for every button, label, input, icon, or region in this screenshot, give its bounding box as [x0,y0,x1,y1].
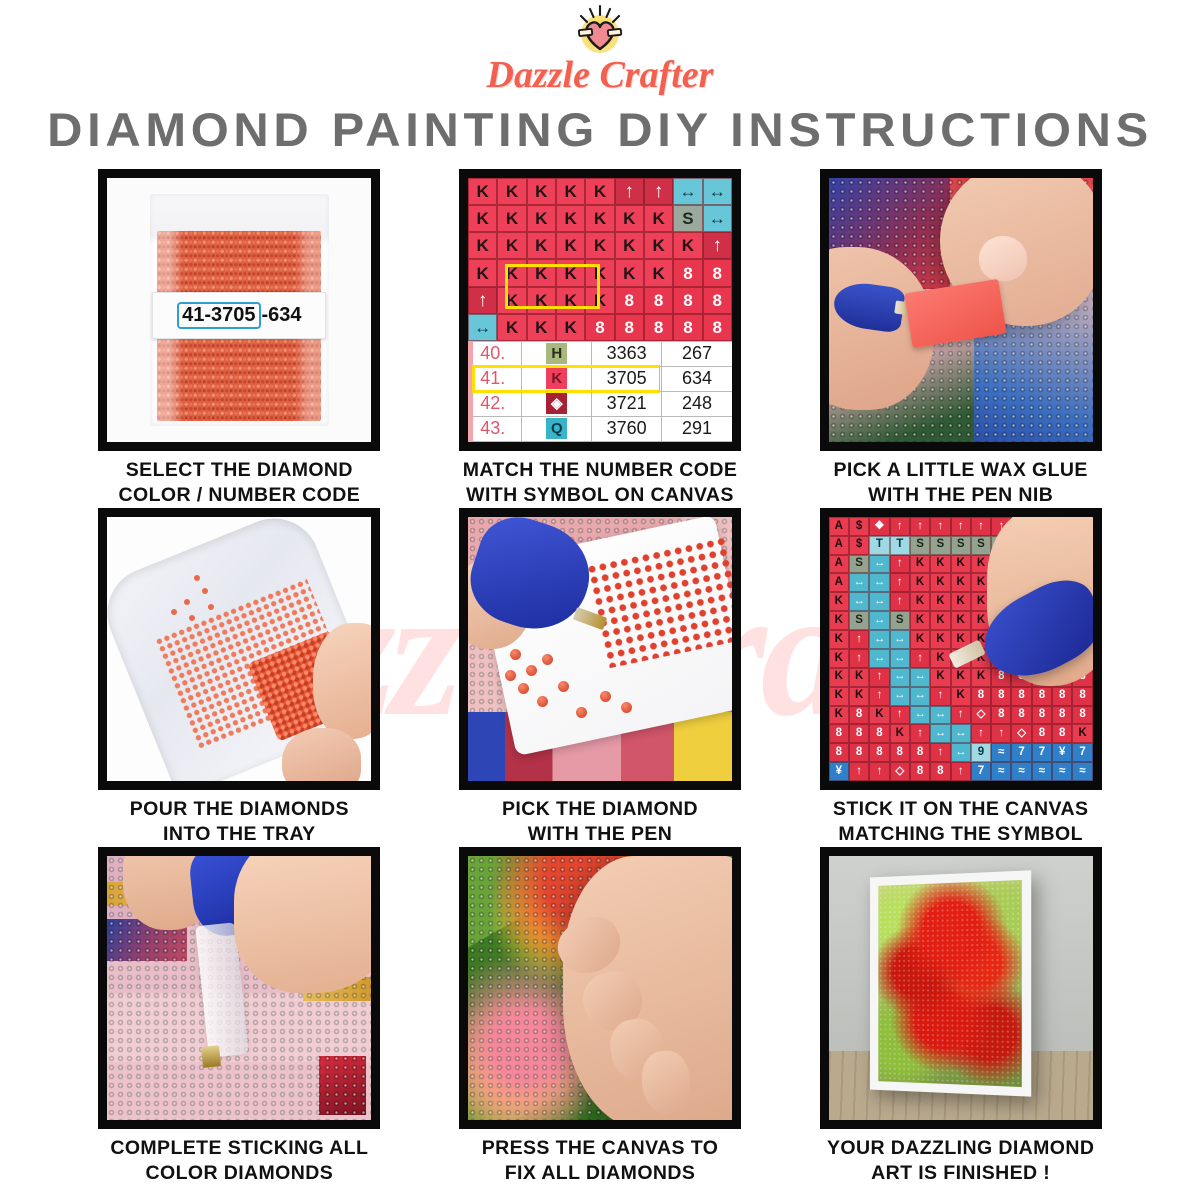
step-5: PICK THE DIAMOND WITH THE PEN [433,508,768,847]
canvas-chart-with-legend-photo: KKK KK ↑↑ ↔↔ KKK KKK KS↔ KKK KKK [459,169,741,451]
caption-line-1: STICK IT ON THE CANVAS [833,798,1088,820]
grid-cell: K [930,630,950,649]
grid-cell: K [930,573,950,592]
table-row: 43. Q 3760 291 [473,417,732,442]
grid-cell: K [910,630,930,649]
grid-cell: S [849,555,869,574]
grid-cell: ↔ [869,630,889,649]
legend-table: 40. H 3363 267 41. K 3705 634 [473,342,732,442]
grid-cell: ↑ [869,762,889,781]
grid-cell: 8 [1052,706,1072,725]
grid-cell: ↑ [890,517,910,536]
grid-cell: ≈ [991,762,1011,781]
pick-diamond-with-pen-photo [459,508,741,790]
grid-cell: 8 [1052,724,1072,743]
grid-cell: ❖ [869,517,889,536]
grid-cell: ◇ [1011,724,1031,743]
row-dmc: 3760 [592,417,662,441]
grid-cell: ↑ [890,573,910,592]
grid-cell: A [829,536,849,555]
grid-cell: K [849,687,869,706]
caption-line-1: POUR THE DIAMONDS [130,798,349,820]
grid-cell: K [829,630,849,649]
caption-line-1: COMPLETE STICKING ALL [110,1137,368,1159]
grid-cell: ↑ [930,687,950,706]
grid-cell: ↑ [890,555,910,574]
grid-cell: ↔ [890,630,910,649]
picture-frame [870,871,1031,1097]
grid-cell: 8 [829,724,849,743]
row-no: 41. [473,367,522,391]
step-8-caption: PRESS THE CANVAS TO FIX ALL DIAMONDS [482,1136,719,1186]
row-symbol: K [522,367,592,391]
grid-cell: ◇ [890,762,910,781]
grid-cell: K [930,555,950,574]
caption-line-2: MATCHING THE SYMBOL [833,822,1088,847]
grid-cell: ◇ [971,706,991,725]
grid-cell: 8 [829,743,849,762]
grid-cell: ↔ [849,573,869,592]
grid-cell: ↔ [849,592,869,611]
wax-glue-pen-photo [820,169,1102,451]
page-title: DIAMOND PAINTING DIY INSTRUCTIONS [0,102,1200,157]
grid-cell: 8 [1072,687,1092,706]
grid-cell: ↔ [890,649,910,668]
caption-line-2: INTO THE TRAY [130,822,349,847]
grid-cell: ↑ [849,762,869,781]
grid-cell: 8 [971,687,991,706]
row-qty: 634 [662,367,732,391]
grid-cell: ↔ [890,687,910,706]
row-symbol: ◈ [522,392,592,416]
grid-cell: ≈ [1052,762,1072,781]
grid-cell: 8 [849,706,869,725]
grid-cell: K [951,555,971,574]
suffix-code: -634 [262,304,302,327]
grid-cell: S [849,611,869,630]
table-row: 42. ◈ 3721 248 [473,392,732,417]
caption-line-2: COLOR / NUMBER CODE [119,483,361,508]
grid-cell: K [849,668,869,687]
grid-cell: ↔ [869,555,889,574]
caption-line-2: FIX ALL DIAMONDS [482,1161,719,1186]
row-no: 42. [473,392,522,416]
grid-cell: 8 [869,724,889,743]
grid-cell: ↑ [910,724,930,743]
grid-cell: K [829,592,849,611]
grid-cell: ↔ [930,724,950,743]
grid-cell: ↔ [869,649,889,668]
grid-cell: K [910,555,930,574]
row-qty: 267 [662,342,732,366]
grid-cell: ↑ [910,649,930,668]
diamond-bag-photo: 41-3705-634 [98,169,380,451]
grid-cell: 8 [849,743,869,762]
grid-cell: K [951,687,971,706]
grid-cell: 8 [1011,706,1031,725]
grid-cell: ↑ [869,687,889,706]
grid-cell: 8 [1052,687,1072,706]
grid-cell: 8 [991,687,1011,706]
grid-cell: K [910,592,930,611]
grid-cell: ↔ [869,592,889,611]
finished-framed-art-photo [820,847,1102,1129]
grid-cell: 8 [991,706,1011,725]
grid-cell: 8 [1032,706,1052,725]
grid-cell: K [910,573,930,592]
caption-line-2: WITH THE PEN NIB [833,483,1087,508]
caption-line-1: YOUR DAZZLING DIAMOND [827,1137,1094,1159]
grid-cell: ↔ [910,706,930,725]
grid-cell: ↑ [910,517,930,536]
grid-cell: ↔ [869,611,889,630]
grid-cell: ≈ [1032,762,1052,781]
grid-cell: K [829,611,849,630]
grid-cell: ¥ [1052,743,1072,762]
brand-logo: Dazzle Crafter [0,4,1200,94]
grid-cell: K [829,706,849,725]
row-symbol: Q [522,417,592,441]
grid-cell: 8 [1011,687,1031,706]
grid-cell: ↔ [951,724,971,743]
grid-cell: ↑ [951,706,971,725]
grid-cell: 8 [890,743,910,762]
grid-cell: 7 [1072,743,1092,762]
grid-cell: 8 [1032,724,1052,743]
step-3: PICK A LITTLE WAX GLUE WITH THE PEN NIB [793,169,1128,508]
row-dmc: 3721 [592,392,662,416]
grid-cell: 7 [971,762,991,781]
grid-cell: 8 [1032,687,1052,706]
grid-cell: K [930,649,950,668]
step-1-caption: SELECT THE DIAMOND COLOR / NUMBER CODE [119,458,361,508]
complete-sticking-photo [98,847,380,1129]
grid-cell: S [951,536,971,555]
row-no: 43. [473,417,522,441]
grid-cell: 9 [971,743,991,762]
caption-line-1: SELECT THE DIAMOND [126,459,353,481]
grid-cell: ≈ [991,743,1011,762]
step-5-caption: PICK THE DIAMOND WITH THE PEN [502,797,698,847]
step-7: COMPLETE STICKING ALL COLOR DIAMONDS [72,847,407,1186]
step-8: PRESS THE CANVAS TO FIX ALL DIAMONDS [433,847,768,1186]
grid-cell: 8 [869,743,889,762]
grid-cell: 8 [930,762,950,781]
caption-line-2: WITH SYMBOL ON CANVAS [463,483,738,508]
page-header: Dazzle Crafter DIAMOND PAINTING DIY INST… [0,0,1200,157]
grid-cell: S [930,536,950,555]
caption-line-2: ART IS FINISHED ! [827,1161,1094,1186]
grid-cell: $ [849,536,869,555]
grid-cell: ↑ [890,706,910,725]
caption-line-1: MATCH THE NUMBER CODE [463,459,738,481]
caption-line-2: WITH THE PEN [502,822,698,847]
row-qty: 248 [662,392,732,416]
grid-cell: A [829,573,849,592]
step-2: KKK KK ↑↑ ↔↔ KKK KKK KS↔ KKK KKK [433,169,768,508]
step-4: POUR THE DIAMONDS INTO THE TRAY [72,508,407,847]
grid-cell: K [951,573,971,592]
grid-cell: ↑ [991,724,1011,743]
grid-cell: ↑ [869,668,889,687]
grid-cell: ↔ [930,706,950,725]
caption-line-1: PICK THE DIAMOND [502,798,698,820]
diamonds-in-tray-photo [98,508,380,790]
brand-name: Dazzle Crafter [487,56,714,94]
grid-cell: 7 [1011,743,1031,762]
grid-cell: S [971,536,991,555]
grid-cell: ↑ [971,517,991,536]
bag-label: 41-3705-634 [152,292,326,340]
grid-cell: ↑ [930,743,950,762]
grid-cell: K [971,668,991,687]
grid-cell: ↔ [869,573,889,592]
row-dmc: 3705 [592,367,662,391]
grid-cell: K [951,611,971,630]
grid-cell: A [829,555,849,574]
row-dmc: 3363 [592,342,662,366]
grid-cell: ↔ [910,687,930,706]
table-row-highlighted: 41. K 3705 634 [473,367,732,392]
grid-cell: K [890,724,910,743]
heart-with-pen-icon [570,4,630,60]
press-canvas-photo [459,847,741,1129]
step-6-caption: STICK IT ON THE CANVAS MATCHING THE SYMB… [833,797,1088,847]
step-2-caption: MATCH THE NUMBER CODE WITH SYMBOL ON CAN… [463,458,738,508]
grid-cell: 8 [1072,706,1092,725]
grid-cell: K [1072,724,1092,743]
grid-cell: K [829,687,849,706]
grid-cell: K [930,668,950,687]
grid-cell: ↑ [951,517,971,536]
row-symbol: H [522,342,592,366]
grid-cell: K [951,668,971,687]
canvas-symbol-grid: KKK KK ↑↑ ↔↔ KKK KKK KS↔ KKK KKK [468,178,732,342]
grid-cell: ↑ [971,724,991,743]
grid-cell: K [930,592,950,611]
grid-cell: A [829,517,849,536]
table-row: 40. H 3363 267 [473,342,732,367]
step-3-caption: PICK A LITTLE WAX GLUE WITH THE PEN NIB [833,458,1087,508]
caption-line-1: PICK A LITTLE WAX GLUE [833,459,1087,481]
caption-line-2: COLOR DIAMONDS [110,1161,368,1186]
grid-cell: ↑ [930,517,950,536]
grid-cell: ↔ [910,668,930,687]
grid-cell: ↑ [951,762,971,781]
instruction-steps-grid: 41-3705-634 SELECT THE DIAMOND COLOR / N… [0,157,1200,1186]
grid-cell: 8 [910,762,930,781]
grid-cell: K [910,611,930,630]
grid-cell: ↑ [849,630,869,649]
step-9-caption: YOUR DAZZLING DIAMOND ART IS FINISHED ! [827,1136,1094,1186]
step-1: 41-3705-634 SELECT THE DIAMOND COLOR / N… [72,169,407,508]
grid-cell: K [869,706,889,725]
step-9: YOUR DAZZLING DIAMOND ART IS FINISHED ! [793,847,1128,1186]
grid-cell: ↔ [890,668,910,687]
step-6: A$❖↑↑↑↑↑↑↑↑KKA$TTSSSSS↔↔SKAS↔↑KKKK↑↔↔↔KA… [793,508,1128,847]
grid-cell: 8 [849,724,869,743]
grid-cell: ↑ [890,592,910,611]
grid-cell: T [890,536,910,555]
highlighted-code: 41-3705 [177,302,260,329]
grid-cell: ≈ [1072,762,1092,781]
grid-cell: ≈ [1011,762,1031,781]
grid-cell: K [829,668,849,687]
row-qty: 291 [662,417,732,441]
step-4-caption: POUR THE DIAMONDS INTO THE TRAY [130,797,349,847]
grid-cell: K [829,649,849,668]
row-no: 40. [473,342,522,366]
grid-cell: K [951,592,971,611]
grid-cell: ¥ [829,762,849,781]
stick-diamond-on-symbol-chart-photo: A$❖↑↑↑↑↑↑↑↑KKA$TTSSSSS↔↔SKAS↔↑KKKK↑↔↔↔KA… [820,508,1102,790]
grid-cell: ↑ [849,649,869,668]
grid-cell: T [869,536,889,555]
caption-line-1: PRESS THE CANVAS TO [482,1137,719,1159]
grid-cell: 7 [1032,743,1052,762]
grid-cell: ↔ [951,743,971,762]
grid-cell: S [890,611,910,630]
grid-cell: 8 [910,743,930,762]
grid-cell: $ [849,517,869,536]
grid-cell: K [930,611,950,630]
grid-cell: S [910,536,930,555]
step-7-caption: COMPLETE STICKING ALL COLOR DIAMONDS [110,1136,368,1186]
